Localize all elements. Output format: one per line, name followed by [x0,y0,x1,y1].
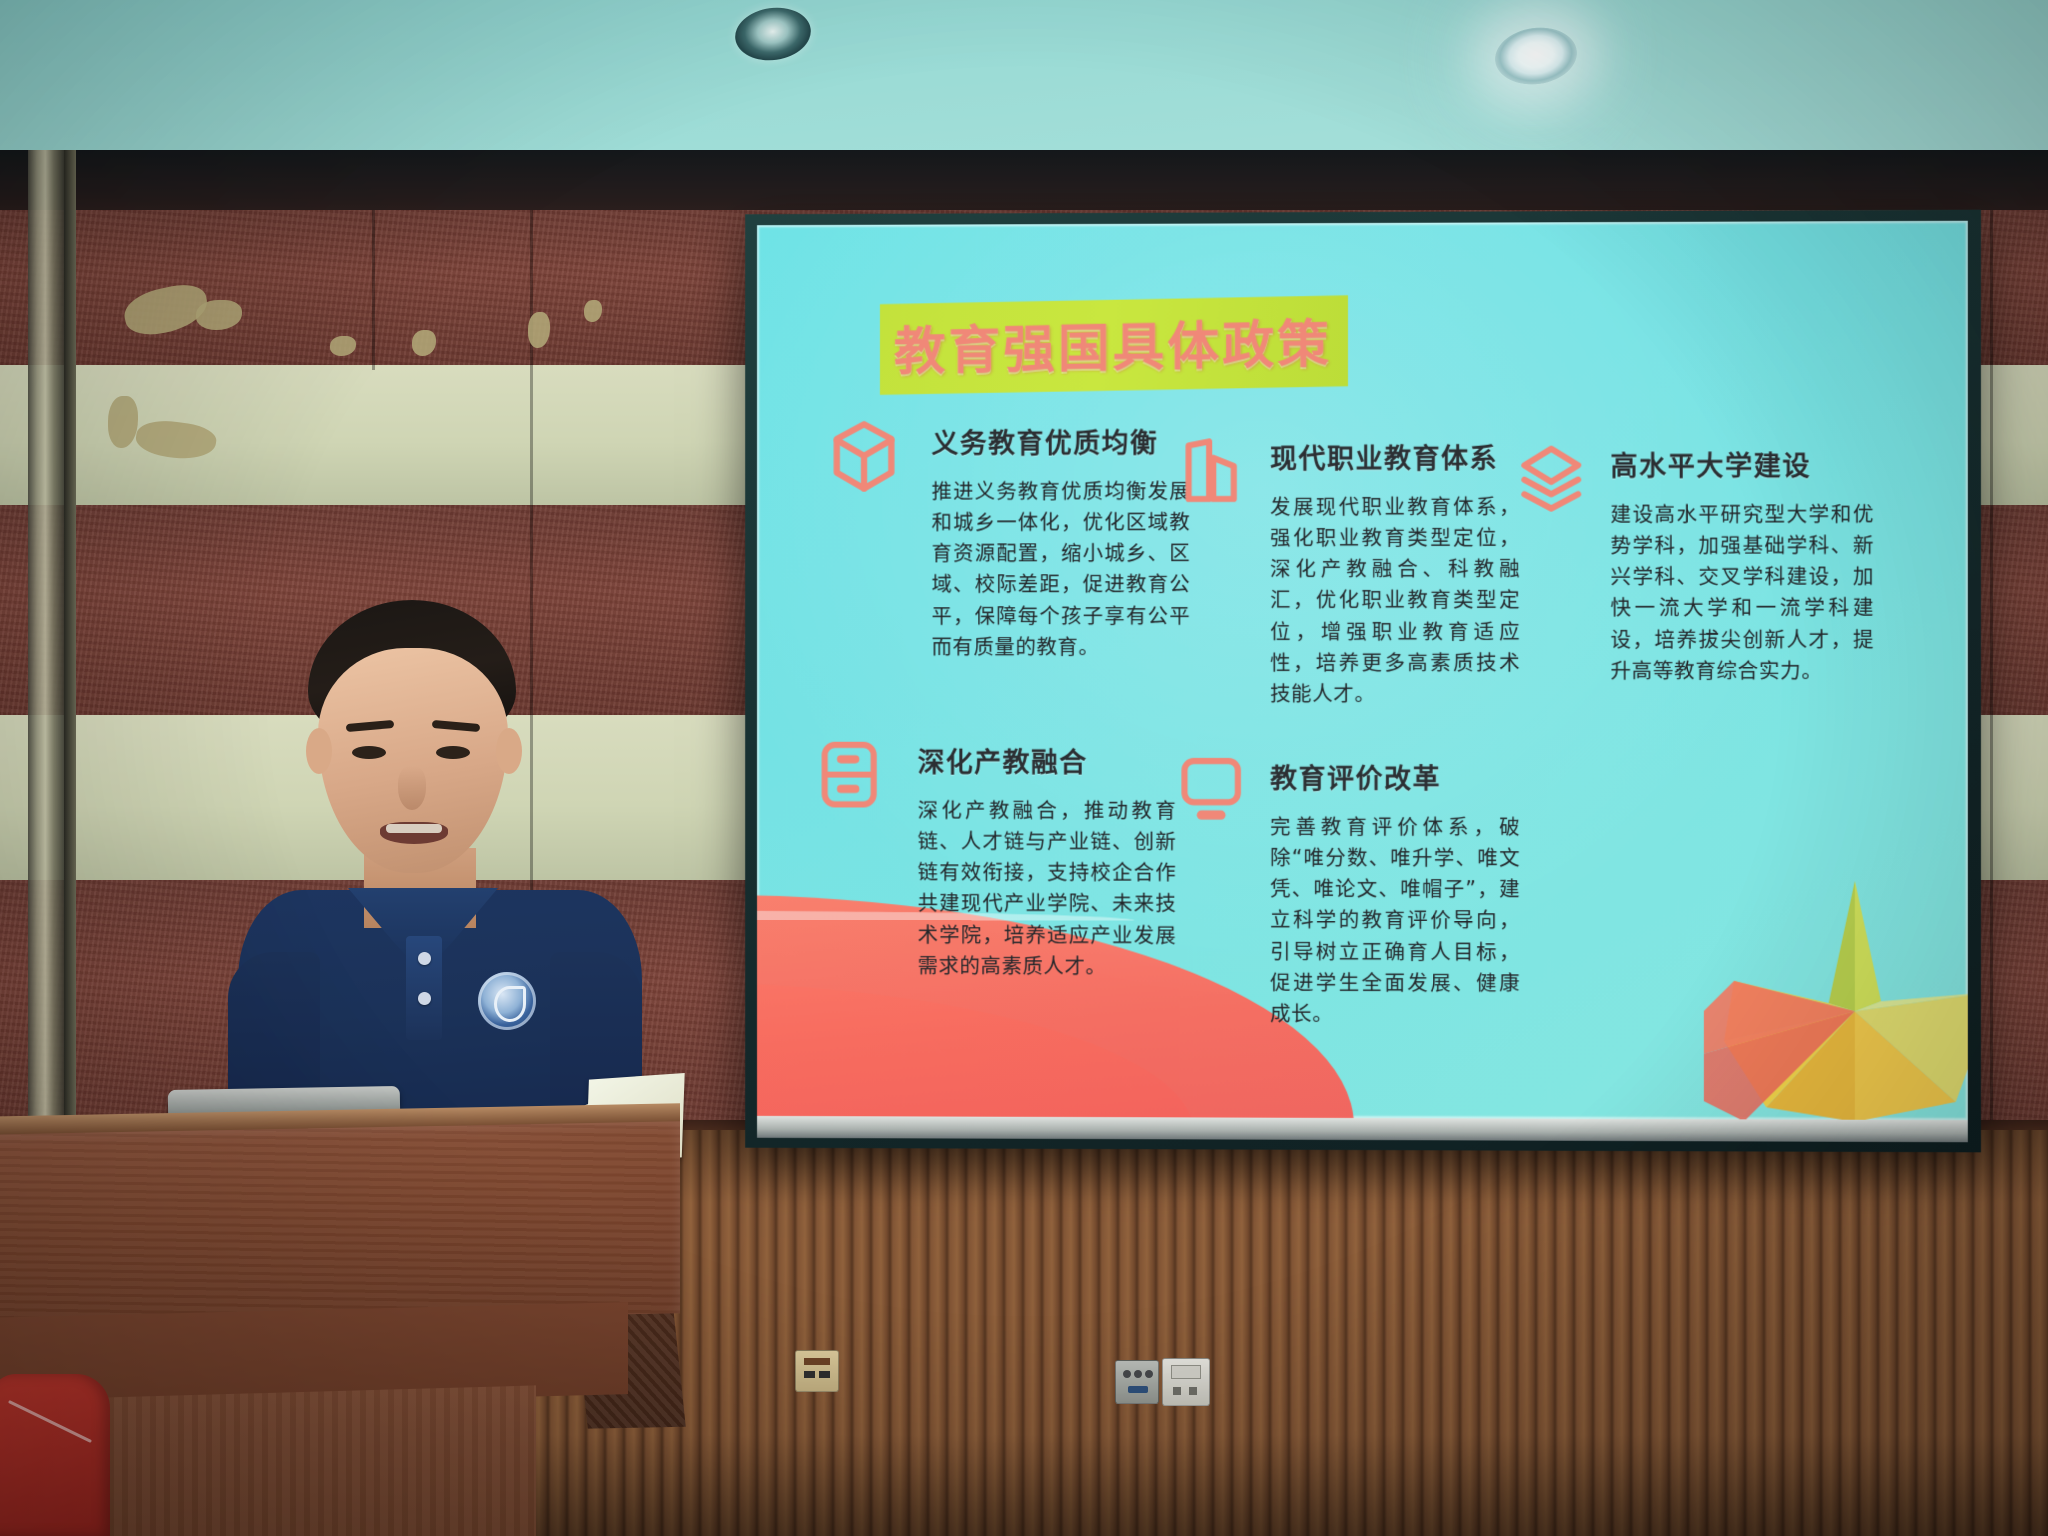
slide-block-3-heading: 高水平大学建设 [1610,444,1874,484]
slide-block-5-heading: 教育评价改革 [1270,757,1520,796]
red-chair [0,1374,110,1536]
slide-block-5: 教育评价改革 完善教育评价体系，破除“唯分数、唯升学、唯文凭、唯论文、唯帽子”，… [1178,751,1498,1031]
slide-block-1: 义务教育优质均衡 推进义务教育优质均衡发展和城乡一体化，优化区域教育资源配置，缩… [830,415,1148,663]
conference-room-photo: 教育强国具体政策 义务教育优质均衡 推进义务教育优质均衡发展和城乡一体化，优化区… [0,0,2048,1536]
white-socket-plate[interactable] [1162,1358,1210,1406]
screen-bottom-lip [757,1116,1968,1142]
presenter-shirt-button [418,952,431,965]
wall-metal-trim [28,150,64,1130]
presenter-eye-right [436,746,470,759]
wall-seam [1990,210,1993,1130]
presenter-ear-left [306,728,332,774]
presenter-nose [398,766,426,810]
steel-outlet-plate[interactable] [1115,1360,1159,1404]
projection-screen-frame: 教育强国具体政策 义务教育优质均衡 推进义务教育优质均衡发展和城乡一体化，优化区… [745,210,1981,1153]
presenter-shirt-button [418,992,431,1005]
building-icon [1178,435,1252,515]
wall-seam [372,210,375,370]
slide-block-4-heading: 深化产教融合 [918,741,1177,780]
monitor-icon [1178,755,1252,835]
slide-content-area: 义务教育优质均衡 推进义务教育优质均衡发展和城乡一体化，优化区域教育资源配置，缩… [830,408,1927,970]
slide-title-text: 教育强国具体政策 [894,302,1332,385]
slide-block-3-body: 建设高水平研究型大学和优势学科，加强基础学科、新兴学科、交叉学科建设，加快一流大… [1610,499,1874,687]
presenter [228,600,648,1160]
presenter-mouth [380,822,448,844]
slide-block-1-heading: 义务教育优质均衡 [932,421,1191,460]
slide-block-4-body: 深化产教融合，推动教育链、人才链与产业链、创新链有效衔接，支持校企合作共建现代产… [918,796,1177,983]
slide-block-2-heading: 现代职业教育体系 [1270,437,1520,476]
wall-metal-trim-inner [64,150,76,1130]
podium-front-panel [0,1117,680,1326]
slide-block-5-body: 完善教育评价体系，破除“唯分数、唯升学、唯文凭、唯论文、唯帽子”，建立科学的教育… [1270,812,1520,1031]
slide-block-2: 现代职业教育体系 发展现代职业教育体系，强化职业教育类型定位，深化产教融合、科教… [1178,431,1488,710]
slide-block-1-body: 推进义务教育优质均衡发展和城乡一体化，优化区域教育资源配置，缩小城乡、区域、校际… [932,476,1191,663]
presenter-ear-right [496,728,522,774]
projected-slide: 教育强国具体政策 义务教育优质均衡 推进义务教育优质均衡发展和城乡一体化，优化区… [757,221,1968,1120]
cube-icon [830,420,903,500]
presenter-logo-badge [478,972,536,1030]
layers-icon [1518,443,1592,523]
podium-base [66,1385,536,1536]
slide-title-highlight: 教育强国具体政策 [880,295,1348,394]
beige-switch-plate[interactable] [795,1350,839,1392]
slide-block-3: 高水平大学建设 建设高水平研究型大学和优势学科，加强基础学科、新兴学科、交叉学科… [1518,438,1830,687]
slide-block-4: 深化产教融合 深化产教融合，推动教育链、人才链与产业链、创新链有效衔接，支持校企… [816,735,1144,983]
server-drawer-icon [816,739,889,819]
presenter-eye-left [352,746,386,759]
slide-block-2-body: 发展现代职业教育体系，强化职业教育类型定位，深化产教融合、科教融汇，优化职业教育… [1270,492,1520,710]
